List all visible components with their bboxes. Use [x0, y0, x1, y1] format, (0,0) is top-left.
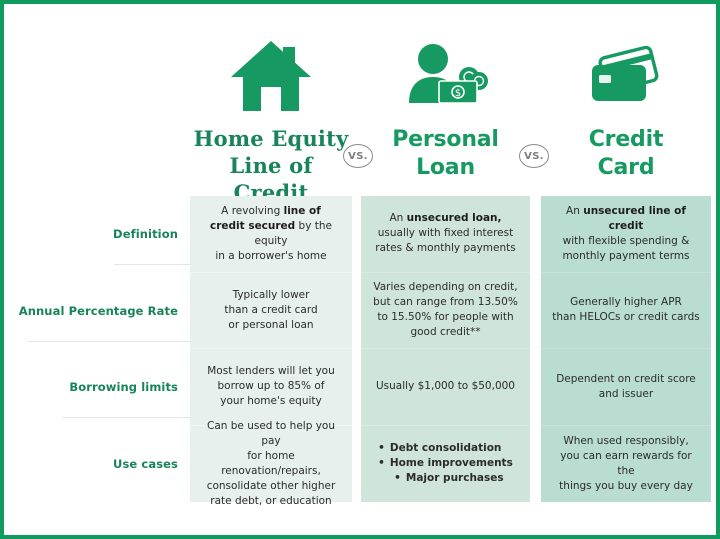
text-emphasis: line of [284, 205, 321, 217]
use-cases-list: Debt consolidation Home improvements Maj… [378, 441, 513, 486]
cell-text: When used responsibly, you can earn rewa… [551, 434, 701, 494]
column-body-heloc: A revolving line of credit secured by th… [190, 196, 352, 502]
house-icon [229, 30, 313, 122]
cell-heloc-apr: Typically lower than a credit card or pe… [190, 273, 352, 350]
cell-heloc-limits: Most lenders will let you borrow up to 8… [190, 349, 352, 426]
cell-personal-loan-limits: Usually $1,000 to $50,000 [361, 349, 530, 426]
cell-credit-card-limits: Dependent on credit score and issuer [541, 349, 711, 426]
column-header-personal-loan: $ Personal Loan [361, 30, 530, 182]
list-item: Home improvements [378, 456, 513, 471]
cell-text: Generally higher APR than HELOCs or cred… [552, 295, 700, 325]
title-line-1: Home Equity [190, 126, 352, 153]
list-item: Debt consolidation [378, 441, 513, 456]
text-fragment: in a borrower's home [215, 250, 326, 262]
cell-text: Typically lower than a credit card or pe… [224, 288, 317, 333]
column-header-credit-card: Credit Card [541, 30, 711, 182]
cell-text: Usually $1,000 to $50,000 [376, 379, 515, 394]
cell-text: Can be used to help you pay for home ren… [200, 419, 342, 508]
cell-credit-card-uses: When used responsibly, you can earn rewa… [541, 426, 711, 503]
svg-text:$: $ [454, 88, 460, 99]
column-title-personal-loan: Personal Loan [392, 126, 499, 182]
text-fragment: An [566, 205, 583, 217]
text-fragment: with flexible spending & monthly payment… [562, 235, 689, 262]
vs-badge-2: VS. [519, 144, 549, 168]
text-fragment: A revolving [221, 205, 283, 217]
vs-badge-1: VS. [343, 144, 373, 168]
cell-text: Most lenders will let you borrow up to 8… [207, 364, 335, 409]
person-with-money-icon: $ [403, 30, 489, 122]
cell-credit-card-definition: An unsecured line of credit with flexibl… [541, 196, 711, 273]
text-emphasis: unsecured loan, [407, 212, 502, 224]
column-title-heloc: Home Equity Line of Credit [190, 126, 352, 207]
text-emphasis: unsecured line of credit [583, 205, 686, 232]
text-emphasis: credit secured [210, 220, 295, 232]
column-title-credit-card: Credit Card [589, 126, 664, 182]
comparison-infographic: Home Equity Line of Credit $ [0, 0, 720, 539]
list-item: Major purchases [378, 471, 513, 486]
column-header-heloc: Home Equity Line of Credit [190, 30, 352, 207]
title-line-1: Personal [392, 126, 499, 154]
cell-personal-loan-apr: Varies depending on credit, but can rang… [361, 273, 530, 350]
title-line-2: Card [589, 154, 664, 182]
cell-text: Dependent on credit score and issuer [556, 372, 696, 402]
comparison-table: A revolving line of credit secured by th… [4, 196, 716, 502]
cell-text: Varies depending on credit, but can rang… [373, 280, 518, 340]
column-body-personal-loan: An unsecured loan, usually with fixed in… [361, 196, 530, 502]
cell-heloc-uses: Can be used to help you pay for home ren… [190, 426, 352, 503]
column-headers: Home Equity Line of Credit $ [190, 30, 711, 192]
cell-personal-loan-uses: Debt consolidation Home improvements Maj… [361, 426, 530, 503]
title-line-2: Loan [392, 154, 499, 182]
credit-cards-icon [584, 30, 668, 122]
column-body-credit-card: An unsecured line of credit with flexibl… [541, 196, 711, 502]
text-fragment: usually with fixed interest rates & mont… [375, 227, 515, 254]
title-line-1: Credit [589, 126, 664, 154]
text-fragment: An [389, 212, 406, 224]
cell-heloc-definition: A revolving line of credit secured by th… [190, 196, 352, 273]
cell-credit-card-apr: Generally higher APR than HELOCs or cred… [541, 273, 711, 350]
cell-personal-loan-definition: An unsecured loan, usually with fixed in… [361, 196, 530, 273]
